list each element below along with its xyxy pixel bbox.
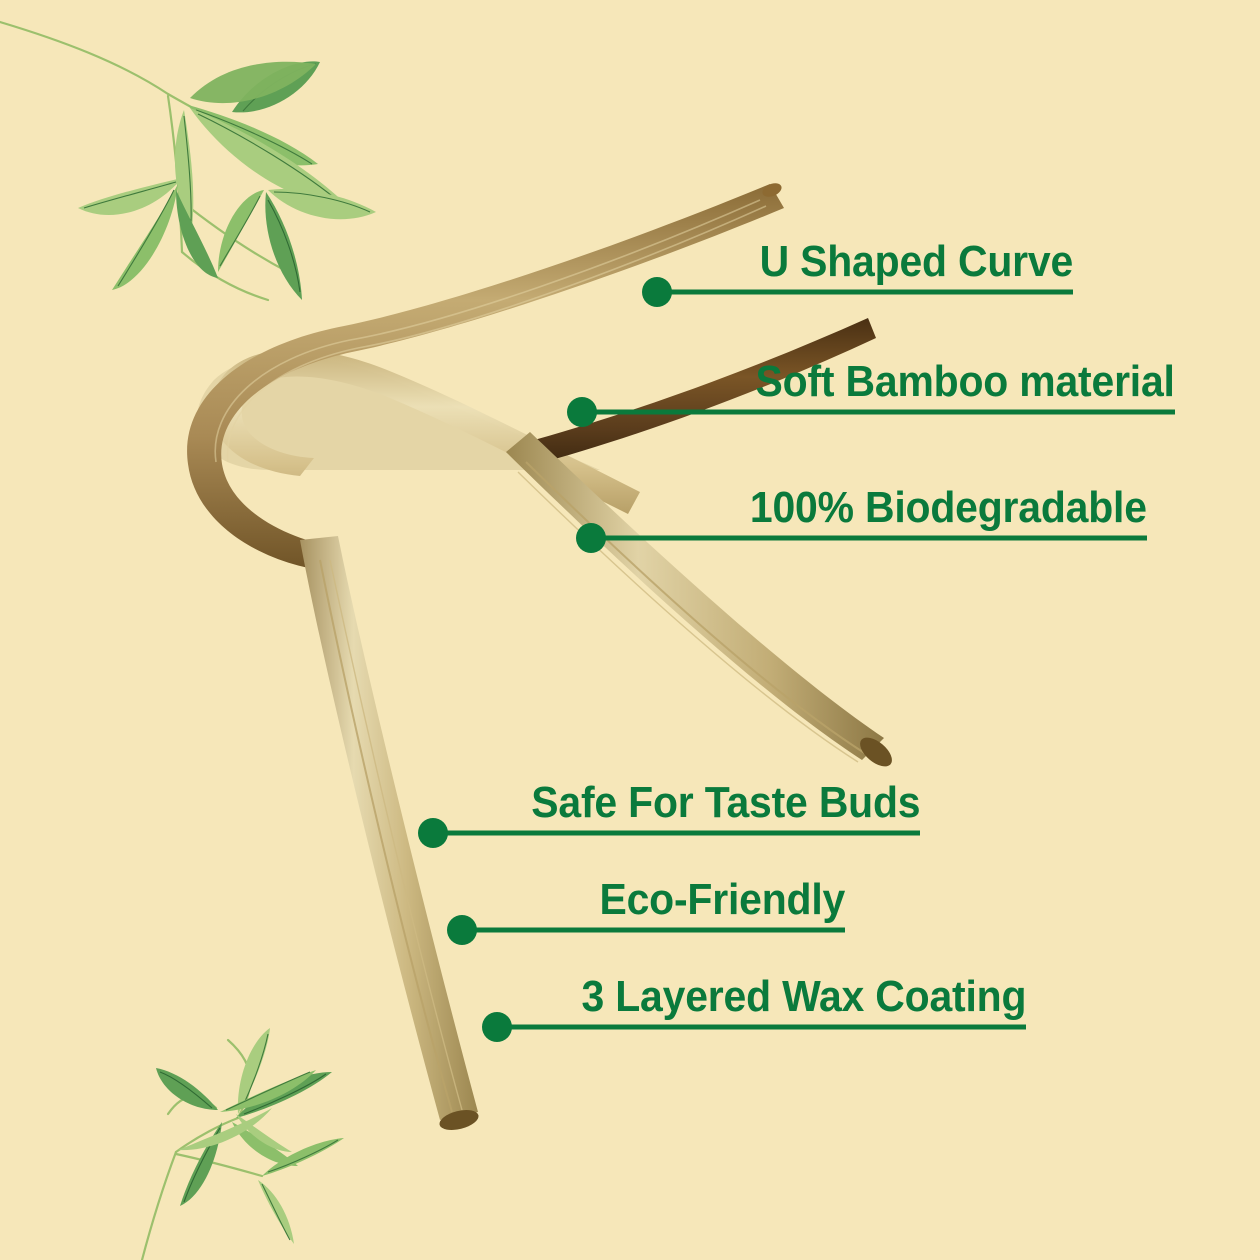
straw-top-tip: [760, 181, 783, 200]
straw-left-leg: [300, 536, 478, 1120]
bamboo-branch-bottom-left-decoration: [0, 0, 1260, 1260]
straw-right-leg: [506, 432, 884, 760]
callout-label-soft-bamboo-material: Soft Bamboo material: [756, 360, 1175, 404]
callout-bullet-dot[interactable]: [576, 523, 606, 553]
callout-bullet-dot[interactable]: [642, 277, 672, 307]
callout-label-u-shaped-curve: U Shaped Curve: [760, 240, 1073, 284]
callout-bullet-dot[interactable]: [447, 915, 477, 945]
callout-label-safe-for-taste-buds: Safe For Taste Buds: [531, 781, 920, 825]
straw-left-tip: [437, 1106, 480, 1133]
callout-bullet-dot[interactable]: [418, 818, 448, 848]
leaf-group-top-left: [78, 61, 376, 300]
straw-right-tip: [855, 732, 897, 772]
callout-connector-layer: [0, 0, 1260, 1260]
bamboo-straw-product-image: [0, 0, 1260, 1260]
callout-label-wax-coating: 3 Layered Wax Coating: [581, 975, 1026, 1019]
leaf-group-bottom-left: [156, 1028, 344, 1244]
callout-label-eco-friendly: Eco-Friendly: [599, 878, 845, 922]
bamboo-branch-top-left-decoration: [0, 0, 1260, 1260]
straw-u-curve-strip: [187, 184, 784, 572]
callout-label-biodegradable: 100% Biodegradable: [750, 486, 1147, 530]
straw-inner-loop: [211, 350, 640, 514]
callout-bullet-dot[interactable]: [567, 397, 597, 427]
infographic-canvas: U Shaped CurveSoft Bamboo material100% B…: [0, 0, 1260, 1260]
callout-bullet-dot[interactable]: [482, 1012, 512, 1042]
